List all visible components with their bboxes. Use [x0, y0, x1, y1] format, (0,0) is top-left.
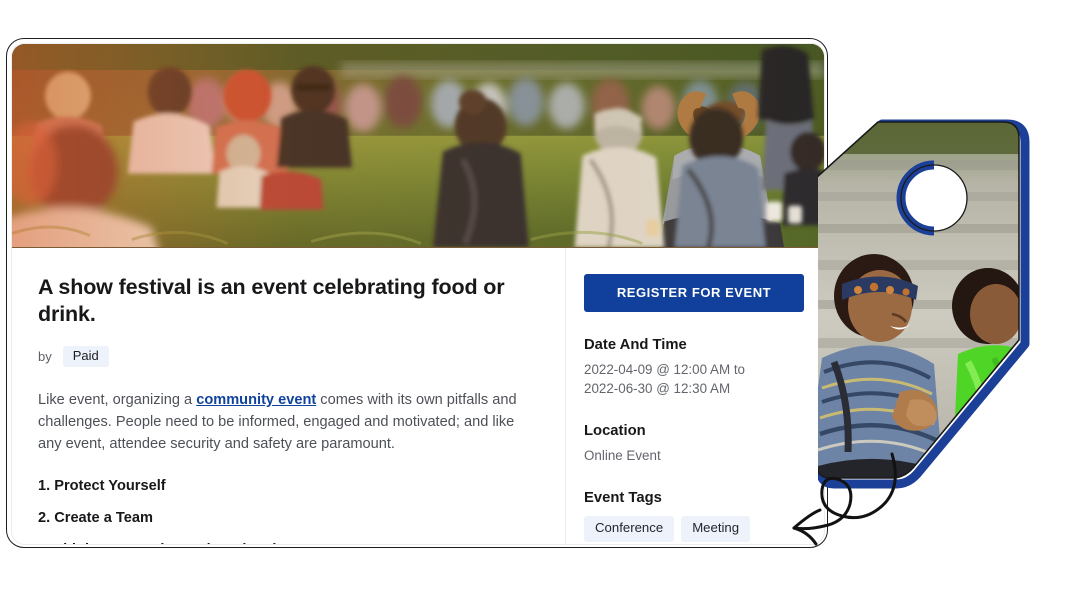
list-item: 3. Think Community During Planning: [38, 542, 539, 545]
date-and-time-heading: Date And Time: [584, 337, 804, 353]
tag-edge-stroke: [818, 122, 1019, 478]
tag-hole-stroke: [901, 165, 967, 231]
event-main-column: A show festival is an event celebrating …: [12, 248, 566, 544]
tag-chip-meeting[interactable]: Meeting: [681, 516, 750, 542]
date-line-2: 2022-06-30 @ 12:30 AM: [584, 381, 730, 396]
event-tags-heading: Event Tags: [584, 490, 804, 506]
tag-photo-fill: [818, 118, 1048, 490]
tag-hole-blue-crescent: [901, 165, 934, 231]
event-description: Like event, organizing a community event…: [38, 389, 539, 456]
event-card: A show festival is an event celebrating …: [6, 38, 828, 548]
hero-image: [12, 44, 824, 248]
steps-list: 1. Protect Yourself 2. Create a Team 3. …: [38, 478, 539, 545]
status-badge: Paid: [63, 346, 109, 367]
tag-chip-conference[interactable]: Conference: [584, 516, 674, 542]
byline-label: by: [38, 349, 52, 364]
crowd-sitting-on-grass-photo: [12, 44, 824, 247]
event-sidebar: REGISTER FOR EVENT Date And Time 2022-04…: [566, 248, 824, 544]
tag-hole: [901, 165, 967, 231]
description-text-before: Like event, organizing a: [38, 392, 196, 408]
list-item: 2. Create a Team: [38, 510, 539, 526]
community-event-link[interactable]: community event: [196, 392, 316, 408]
location-value: Online Event: [584, 446, 804, 465]
location-heading: Location: [584, 423, 804, 439]
event-tags-list: Conference Meeting Yoga: [584, 516, 804, 545]
list-item: 1. Protect Yourself: [38, 478, 539, 494]
register-for-event-button[interactable]: REGISTER FOR EVENT: [584, 274, 804, 312]
date-and-time-value: 2022-04-09 @ 12:00 AM to2022-06-30 @ 12:…: [584, 360, 804, 398]
photo-tag-badge: [818, 100, 1048, 490]
tag-blue-outline: [820, 124, 1025, 484]
byline: by Paid: [38, 346, 539, 367]
page-title: A show festival is an event celebrating …: [38, 274, 539, 328]
date-line-1: 2022-04-09 @ 12:00 AM to: [584, 362, 745, 377]
event-card-body: A show festival is an event celebrating …: [12, 248, 824, 544]
event-card-sheet: A show festival is an event celebrating …: [11, 43, 825, 545]
